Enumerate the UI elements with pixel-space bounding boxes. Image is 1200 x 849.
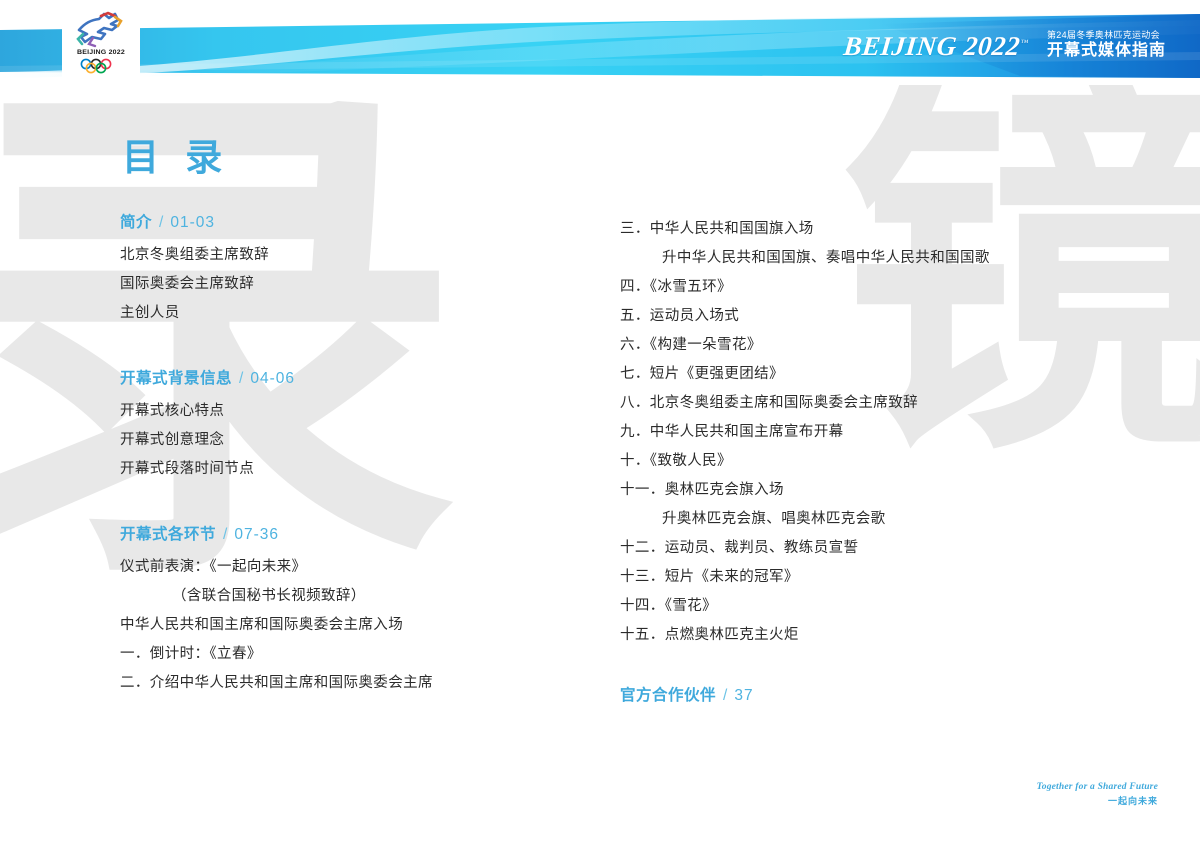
toc-entry[interactable]: 北京冬奥组委主席致辞 xyxy=(120,241,269,270)
toc-section-heading[interactable]: 开幕式各环节/07-36 xyxy=(120,522,433,544)
toc-entry[interactable]: 三．中华人民共和国国旗入场 xyxy=(620,215,990,244)
toc-section-heading-label: 简介 xyxy=(120,214,152,231)
guide-title-block: 第24届冬季奥林匹克运动会 开幕式媒体指南 xyxy=(1039,31,1166,59)
toc-entry[interactable]: 七．短片《更强更团结》 xyxy=(620,360,990,389)
toc-section-heading[interactable]: 开幕式背景信息/04-06 xyxy=(120,366,295,388)
contents-body: 目 录 简介/01-03 北京冬奥组委主席致辞 国际奥委会主席致辞 主创人员 开… xyxy=(0,85,1200,849)
toc-entry[interactable]: 十二．运动员、裁判员、教练员宣誓 xyxy=(620,534,990,563)
toc-section-heading-label: 开幕式背景信息 xyxy=(120,370,232,387)
toc-section-segments: 开幕式各环节/07-36 仪式前表演：《一起向未来》 （含联合国秘书长视频致辞）… xyxy=(120,522,433,698)
toc-entry[interactable]: 国际奥委会主席致辞 xyxy=(120,270,269,299)
toc-entry[interactable]: 十五．点燃奥林匹克主火炬 xyxy=(620,621,990,650)
toc-section-separator: / xyxy=(232,370,250,387)
toc-section-partners: 官方合作伙伴/37 xyxy=(620,683,754,714)
toc-entry[interactable]: 开幕式创意理念 xyxy=(120,426,295,455)
slogan-chinese: 一起向未来 xyxy=(1037,796,1158,807)
toc-section-heading[interactable]: 官方合作伙伴/37 xyxy=(620,683,754,705)
toc-entry[interactable]: 十四．《雪花》 xyxy=(620,592,990,621)
toc-section-segments-continued: 三．中华人民共和国国旗入场 升中华人民共和国国旗、奏唱中华人民共和国国歌 四．《… xyxy=(620,215,990,650)
toc-section-separator: / xyxy=(216,526,234,543)
footer-slogan: Together for a Shared Future 一起向未来 xyxy=(1037,782,1158,807)
guide-title: 开幕式媒体指南 xyxy=(1047,43,1166,59)
toc-entry-subline: 升奥林匹克会旗、唱奥林匹克会歌 xyxy=(620,505,990,534)
toc-entry[interactable]: 仪式前表演：《一起向未来》 xyxy=(120,553,433,582)
page-header: BEIJING 2022 BEIJING 2022™ 第24届冬季奥林匹克运动会… xyxy=(0,0,1200,85)
header-title-group: BEIJING 2022™ 第24届冬季奥林匹克运动会 开幕式媒体指南 xyxy=(844,28,1166,61)
toc-section-pages: 04-06 xyxy=(250,370,295,387)
emblem-dancer-icon xyxy=(71,8,131,50)
toc-entry[interactable]: 主创人员 xyxy=(120,299,269,328)
toc-section-intro: 简介/01-03 北京冬奥组委主席致辞 国际奥委会主席致辞 主创人员 xyxy=(120,210,269,328)
toc-entry[interactable]: 八．北京冬奥组委主席和国际奥委会主席致辞 xyxy=(620,389,990,418)
toc-section-heading-label: 官方合作伙伴 xyxy=(620,687,716,704)
toc-entry[interactable]: 四．《冰雪五环》 xyxy=(620,273,990,302)
toc-entry-subline: 升中华人民共和国国旗、奏唱中华人民共和国国歌 xyxy=(620,244,990,273)
toc-entry[interactable]: 二．介绍中华人民共和国主席和国际奥委会主席 xyxy=(120,669,433,698)
beijing-2022-emblem: BEIJING 2022 xyxy=(62,8,140,84)
toc-section-pages: 07-36 xyxy=(234,526,279,543)
beijing-2022-logotype-text: BEIJING 2022 xyxy=(843,31,1022,61)
emblem-wordmark: BEIJING 2022 xyxy=(77,49,125,56)
toc-entry[interactable]: 五．运动员入场式 xyxy=(620,302,990,331)
toc-entry[interactable]: 中华人民共和国主席和国际奥委会主席入场 xyxy=(120,611,433,640)
toc-section-heading[interactable]: 简介/01-03 xyxy=(120,210,269,232)
olympic-rings-icon xyxy=(78,58,124,74)
toc-entry[interactable]: 一．倒计时：《立春》 xyxy=(120,640,433,669)
toc-entry[interactable]: 十一．奥林匹克会旗入场 xyxy=(620,476,990,505)
toc-entry-subline: （含联合国秘书长视频致辞） xyxy=(120,582,433,611)
page-title: 目 录 xyxy=(122,127,230,181)
toc-entry[interactable]: 十三．短片《未来的冠军》 xyxy=(620,563,990,592)
games-edition-label: 第24届冬季奥林匹克运动会 xyxy=(1047,31,1166,40)
toc-section-separator: / xyxy=(716,687,734,704)
toc-section-separator: / xyxy=(152,214,170,231)
toc-section-pages: 37 xyxy=(734,687,753,704)
toc-section-background: 开幕式背景信息/04-06 开幕式核心特点 开幕式创意理念 开幕式段落时间节点 xyxy=(120,366,295,484)
toc-entry[interactable]: 六．《构建一朵雪花》 xyxy=(620,331,990,360)
slogan-english: Together for a Shared Future xyxy=(1037,782,1158,794)
toc-entry[interactable]: 九．中华人民共和国主席宣布开幕 xyxy=(620,418,990,447)
trademark-symbol: ™ xyxy=(1020,38,1029,47)
toc-entry[interactable]: 开幕式核心特点 xyxy=(120,397,295,426)
toc-entry[interactable]: 开幕式段落时间节点 xyxy=(120,455,295,484)
toc-entry[interactable]: 十．《致敬人民》 xyxy=(620,447,990,476)
toc-section-pages: 01-03 xyxy=(170,214,215,231)
media-guide-contents-page: 录 镜 xyxy=(0,0,1200,849)
beijing-2022-logotype: BEIJING 2022™ xyxy=(843,28,1031,61)
toc-section-heading-label: 开幕式各环节 xyxy=(120,526,216,543)
